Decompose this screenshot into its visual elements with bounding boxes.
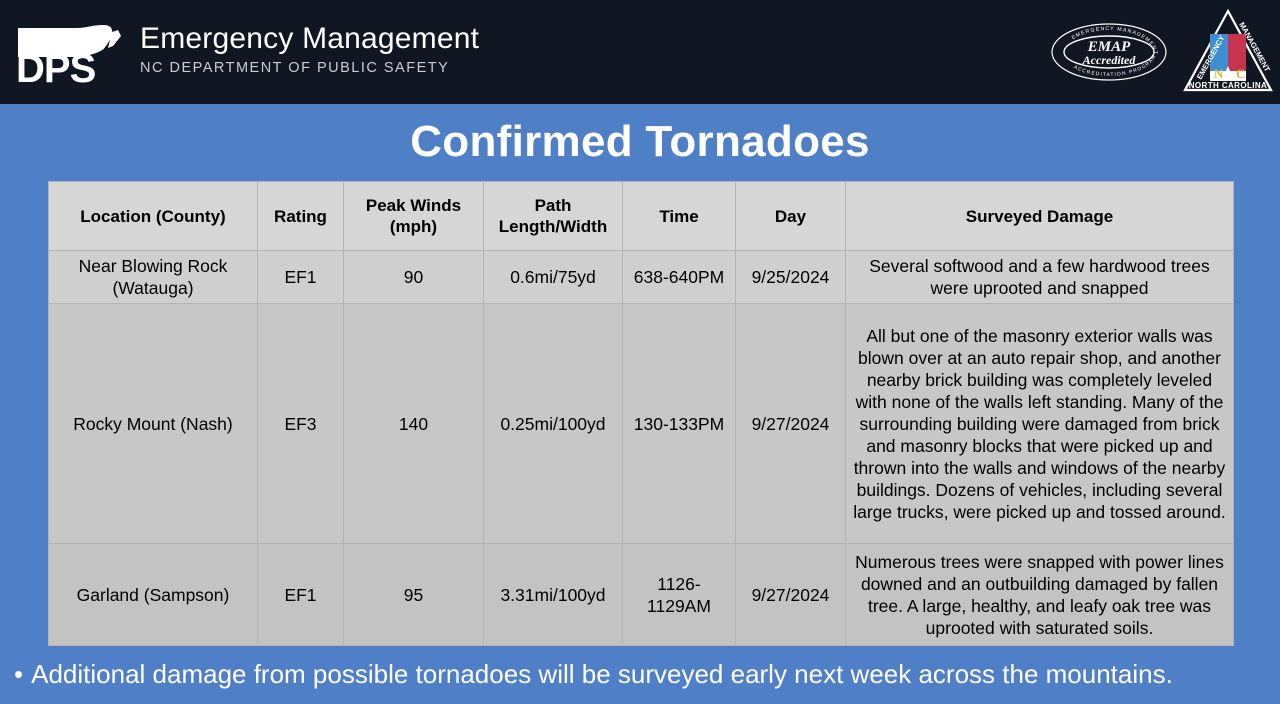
cell-rating: EF3 (258, 304, 344, 544)
svg-text:NORTH CAROLINA: NORTH CAROLINA (1189, 81, 1267, 90)
svg-text:DPS: DPS (16, 47, 96, 88)
table-row: Near Blowing Rock (Watauga) EF1 90 0.6mi… (49, 251, 1234, 304)
cell-surveyed-damage: Numerous trees were snapped with power l… (846, 544, 1234, 646)
svg-text:N: N (1214, 66, 1224, 81)
column-header-surveyed-damage: Surveyed Damage (846, 182, 1234, 251)
cell-time: 638-640PM (623, 251, 736, 304)
cell-peak-winds: 95 (344, 544, 484, 646)
cell-day: 9/25/2024 (736, 251, 846, 304)
brand-title: Emergency Management (140, 22, 479, 56)
page-title: Confirmed Tornadoes (0, 116, 1280, 168)
cell-time: 1126-1129AM (623, 544, 736, 646)
cell-day: 9/27/2024 (736, 544, 846, 646)
cell-location: Garland (Sampson) (49, 544, 258, 646)
column-header-peak-winds: Peak Winds (mph) (344, 182, 484, 251)
dps-logo-icon: DPS (14, 16, 126, 88)
cell-surveyed-damage: All but one of the masonry exterior wall… (846, 304, 1234, 544)
brand-subtitle: NC DEPARTMENT OF PUBLIC SAFETY (140, 59, 479, 77)
column-header-location: Location (County) (49, 182, 258, 251)
top-banner: DPS Emergency Management NC DEPARTMENT O… (0, 0, 1280, 104)
slide-root: DPS Emergency Management NC DEPARTMENT O… (0, 0, 1280, 704)
svg-text:Accredited: Accredited (1082, 53, 1137, 67)
column-header-peak-winds-line1: Peak Winds (366, 196, 461, 215)
confirmed-tornadoes-table-wrapper: Location (County) Rating Peak Winds (mph… (48, 181, 1233, 646)
bullet-marker: • (14, 657, 23, 691)
emap-accredited-seal-icon: EMERGENCY MANAGEMENT ACCREDITATION PROGR… (1050, 22, 1168, 82)
footer-bullet-item: •Additional damage from possible tornado… (14, 657, 1270, 691)
column-header-day: Day (736, 182, 846, 251)
dps-brand-lockup: DPS Emergency Management NC DEPARTMENT O… (14, 16, 479, 88)
cell-surveyed-damage: Several softwood and a few hardwood tree… (846, 251, 1234, 304)
accreditation-seals: EMERGENCY MANAGEMENT ACCREDITATION PROGR… (1050, 0, 1274, 104)
table-row: Garland (Sampson) EF1 95 3.31mi/100yd 11… (49, 544, 1234, 646)
cell-peak-winds: 140 (344, 304, 484, 544)
cell-time: 130-133PM (623, 304, 736, 544)
column-header-path: Path Length/Width (484, 182, 623, 251)
cell-path: 0.6mi/75yd (484, 251, 623, 304)
cell-peak-winds: 90 (344, 251, 484, 304)
column-header-path-line2: Length/Width (499, 217, 607, 236)
cell-location: Near Blowing Rock (Watauga) (49, 251, 258, 304)
bullet-text: Additional damage from possible tornadoe… (31, 659, 1173, 689)
cell-path: 0.25mi/100yd (484, 304, 623, 544)
cell-location: Rocky Mount (Nash) (49, 304, 258, 544)
confirmed-tornadoes-table: Location (County) Rating Peak Winds (mph… (48, 181, 1234, 646)
cell-day: 9/27/2024 (736, 304, 846, 544)
nc-emergency-management-seal-icon: N C NORTH CAROLINA EMERGENCY MANAGEMENT (1182, 8, 1274, 96)
table-header-row: Location (County) Rating Peak Winds (mph… (49, 182, 1234, 251)
column-header-rating: Rating (258, 182, 344, 251)
table-row: Rocky Mount (Nash) EF3 140 0.25mi/100yd … (49, 304, 1234, 544)
cell-rating: EF1 (258, 544, 344, 646)
column-header-time: Time (623, 182, 736, 251)
cell-path: 3.31mi/100yd (484, 544, 623, 646)
column-header-peak-winds-line2: (mph) (390, 217, 437, 236)
column-header-path-line1: Path (535, 196, 572, 215)
svg-text:C: C (1236, 66, 1245, 81)
cell-rating: EF1 (258, 251, 344, 304)
brand-text-block: Emergency Management NC DEPARTMENT OF PU… (140, 16, 479, 77)
